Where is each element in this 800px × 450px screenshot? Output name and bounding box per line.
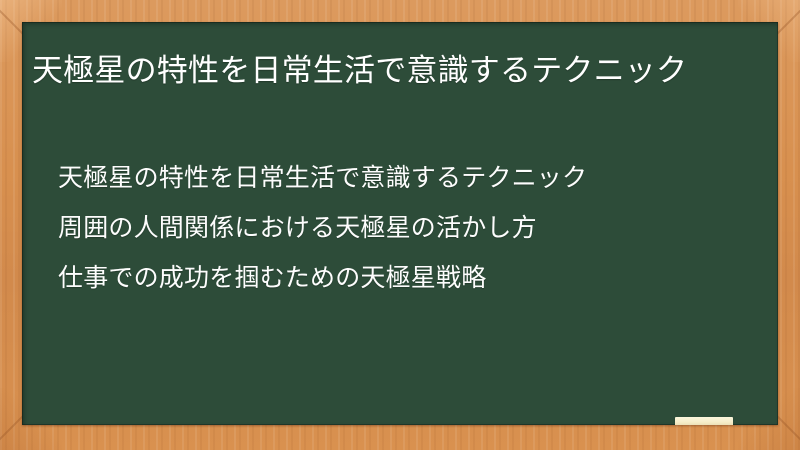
chalkboard-slide: 天極星の特性を日常生活で意識するテクニック 天極星の特性を日常生活で意識するテク… — [0, 0, 800, 450]
bullet-list: 天極星の特性を日常生活で意識するテクニック 周囲の人間関係における天極星の活かし… — [58, 153, 758, 303]
frame-miter-seam-bottom-right — [776, 415, 800, 440]
list-item: 周囲の人間関係における天極星の活かし方 — [58, 203, 758, 253]
frame-miter-seam-top-right — [776, 9, 800, 34]
list-item: 天極星の特性を日常生活で意識するテクニック — [58, 153, 758, 203]
chalk-stick-icon — [675, 417, 733, 425]
frame-miter-seam-top-left — [0, 9, 24, 34]
frame-miter-seam-bottom-left — [0, 415, 24, 440]
slide-title: 天極星の特性を日常生活で意識するテクニック — [32, 49, 768, 93]
list-item: 仕事での成功を掴むための天極星戦略 — [58, 253, 758, 303]
chalkboard-surface: 天極星の特性を日常生活で意識するテクニック 天極星の特性を日常生活で意識するテク… — [22, 22, 778, 425]
